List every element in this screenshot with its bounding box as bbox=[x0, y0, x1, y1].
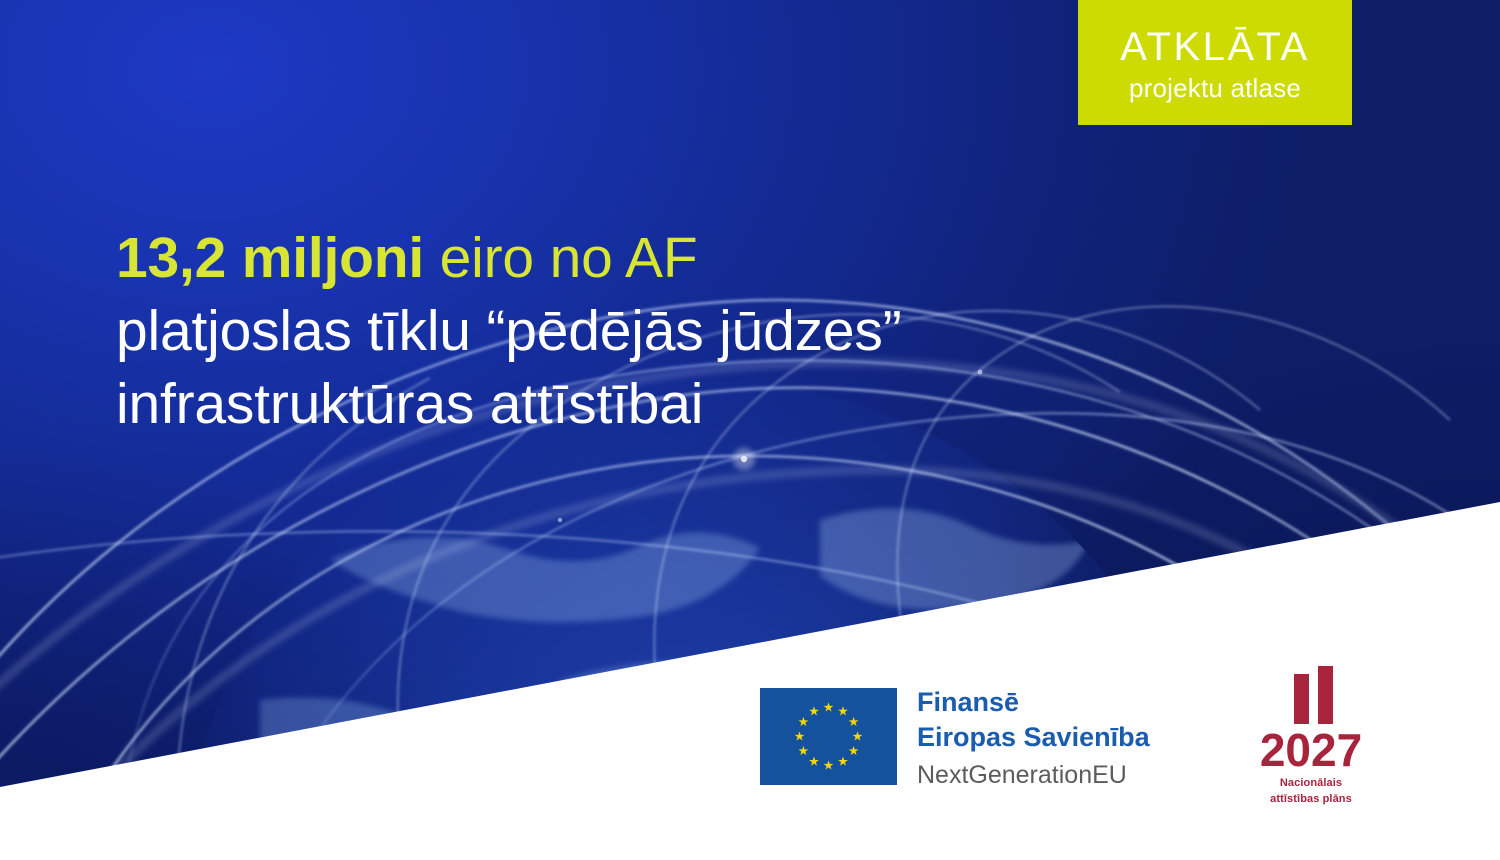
headline-line-1-rest: eiro no AF bbox=[424, 226, 697, 290]
headline: 13,2 miljoni eiro no AF platjoslas tīklu… bbox=[116, 222, 1236, 441]
headline-line-1: 13,2 miljoni eiro no AF bbox=[116, 222, 1236, 295]
open-call-badge: ATKLĀTA projektu atlase bbox=[1078, 0, 1352, 125]
nap-year: 2027 bbox=[1247, 726, 1375, 774]
nap-subtitle-line-1: Nacionālais bbox=[1247, 777, 1375, 790]
eu-text-line-3: NextGenerationEU bbox=[917, 758, 1150, 792]
eu-funding-logo: Finansē Eiropas Savienība NextGeneration… bbox=[760, 688, 1150, 792]
badge-title: ATKLĀTA bbox=[1120, 26, 1309, 68]
headline-line-2: platjoslas tīklu “pēdējās jūdzes” bbox=[116, 295, 1236, 368]
european-union-flag-icon bbox=[760, 688, 897, 785]
headline-line-3: infrastruktūras attīstībai bbox=[116, 368, 1236, 441]
headline-amount: 13,2 miljoni bbox=[116, 226, 424, 290]
nap-2027-logo: 2027 Nacionālais attīstības plāns bbox=[1247, 666, 1375, 806]
eu-text-line-1: Finansē bbox=[917, 685, 1150, 720]
badge-subtitle: projektu atlase bbox=[1129, 72, 1301, 106]
eu-logo-text: Finansē Eiropas Savienība NextGeneration… bbox=[917, 685, 1150, 792]
nap-bars-icon bbox=[1251, 666, 1375, 724]
promo-banner: ATKLĀTA projektu atlase 13,2 miljoni eir… bbox=[0, 0, 1500, 860]
nap-subtitle-line-2: attīstības plāns bbox=[1247, 793, 1375, 806]
nap-bar-right bbox=[1318, 666, 1333, 724]
nap-bar-left bbox=[1294, 674, 1309, 724]
eu-text-line-2: Eiropas Savienība bbox=[917, 720, 1150, 755]
